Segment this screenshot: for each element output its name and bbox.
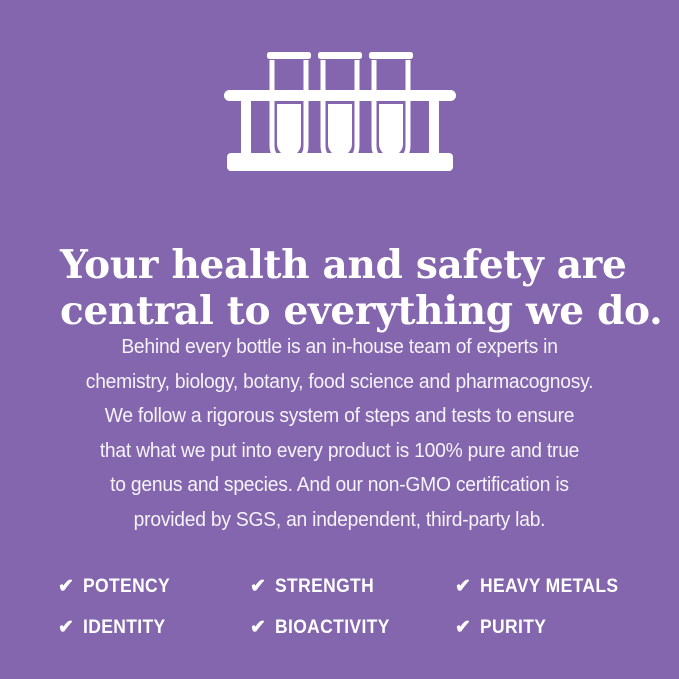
body-line-5: to genus and species. And our non-GMO ce… (65, 468, 613, 503)
check-label: HEAVY METALS (480, 576, 618, 598)
body-line-4: that what we put into every product is 1… (65, 434, 613, 469)
check-icon: ✔ (455, 618, 471, 637)
check-icon: ✔ (58, 577, 74, 596)
body-line-6: provided by SGS, an independent, third-p… (65, 503, 613, 538)
check-label: IDENTITY (83, 617, 166, 639)
check-item-potency: ✔ POTENCY (58, 576, 250, 598)
body-line-1: Behind every bottle is an in-house team … (65, 330, 613, 365)
check-icon: ✔ (455, 577, 471, 596)
check-icon: ✔ (250, 577, 266, 596)
body-line-3: We follow a rigorous system of steps and… (65, 399, 613, 434)
check-icon: ✔ (250, 618, 266, 637)
check-label: STRENGTH (275, 576, 374, 598)
check-item-heavy-metals: ✔ HEAVY METALS (455, 576, 638, 598)
quality-test-checklist: ✔ POTENCY ✔ STRENGTH ✔ HEAVY METALS ✔ ID… (58, 566, 638, 648)
quality-promise-banner: Your health and safety are central to ev… (0, 0, 679, 679)
page-title: Your health and safety are central to ev… (0, 242, 679, 334)
test-tube-rack-icon (0, 38, 679, 178)
body-line-2: chemistry, biology, botany, food science… (65, 365, 613, 400)
headline-line-1: Your health and safety are (60, 242, 619, 288)
check-icon: ✔ (58, 618, 74, 637)
check-item-strength: ✔ STRENGTH (250, 576, 455, 598)
check-label: POTENCY (83, 576, 170, 598)
check-label: PURITY (480, 617, 546, 639)
check-item-bioactivity: ✔ BIOACTIVITY (250, 617, 455, 639)
check-item-purity: ✔ PURITY (455, 617, 638, 639)
body-paragraph: Behind every bottle is an in-house team … (0, 330, 679, 537)
check-label: BIOACTIVITY (275, 617, 390, 639)
check-item-identity: ✔ IDENTITY (58, 617, 250, 639)
headline-line-2: central to everything we do. (60, 288, 619, 334)
